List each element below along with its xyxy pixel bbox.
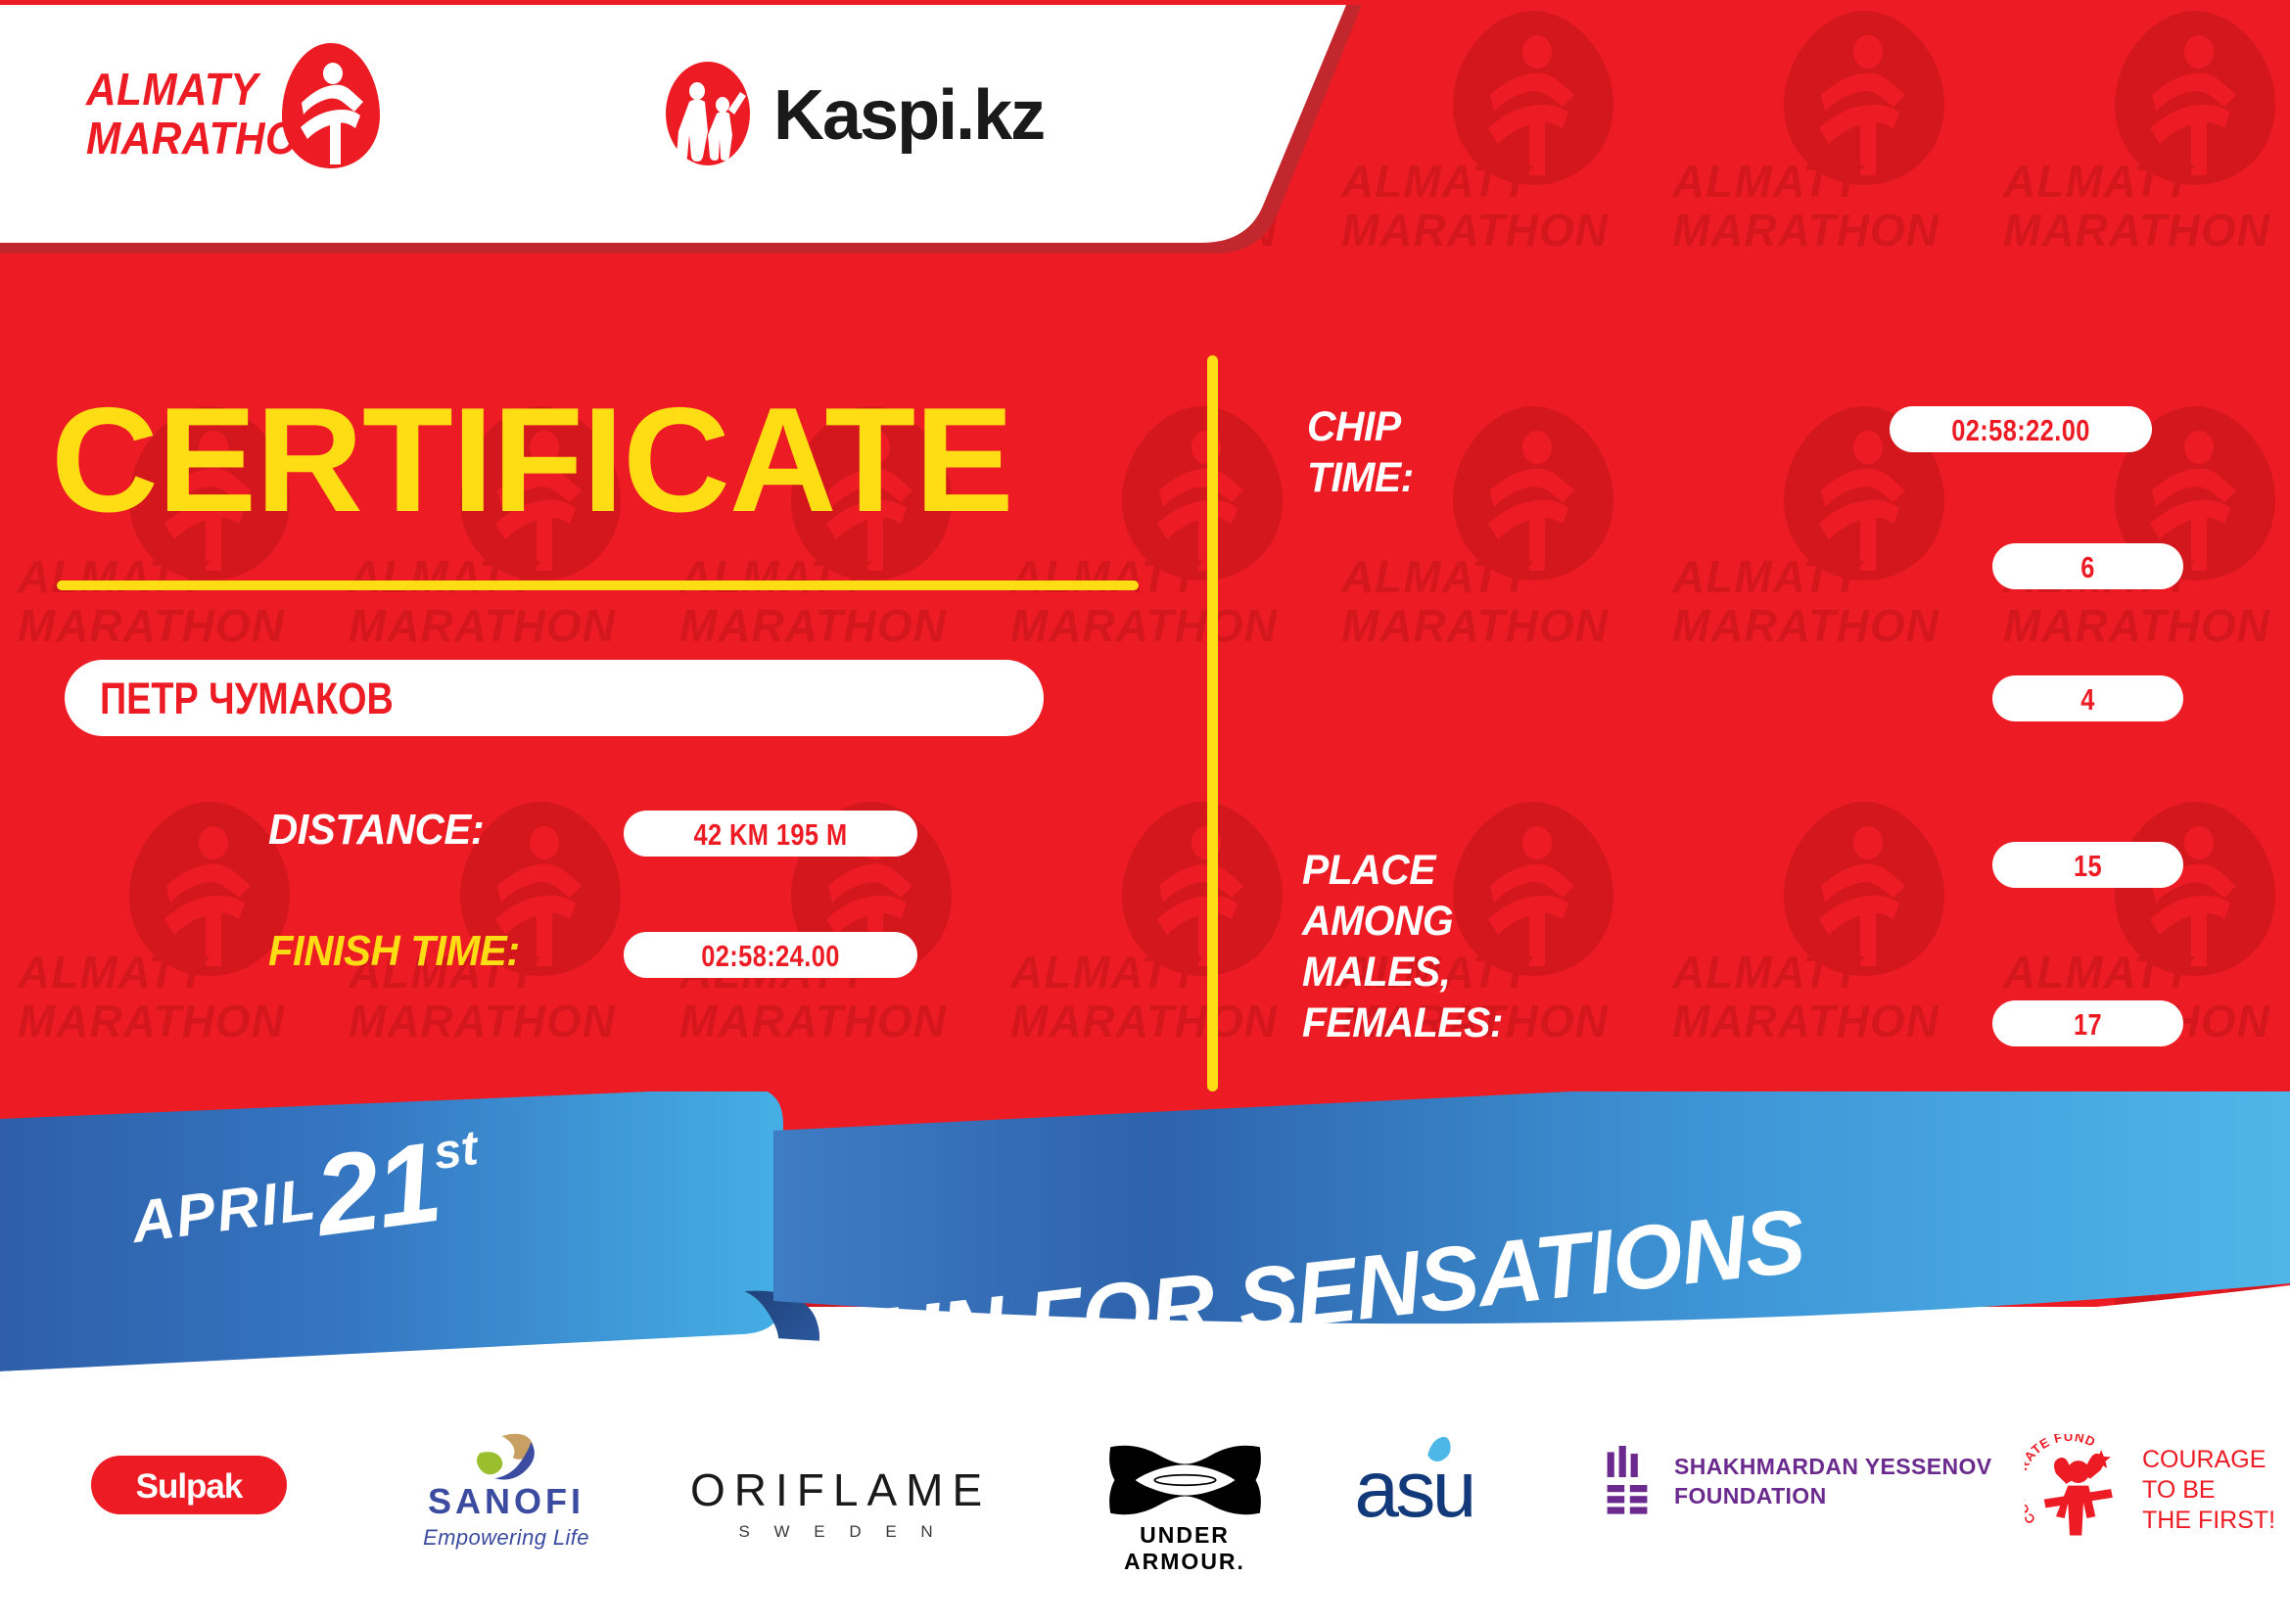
distance-value-pill: 42 KM 195 M (624, 811, 917, 857)
sanofi-label: SANOFI (403, 1481, 609, 1522)
participant-name-field: ПЕТР ЧУМАКОВ (65, 660, 1044, 736)
event-day: 21 (308, 1118, 446, 1260)
svg-text:asu: asu (1354, 1445, 1472, 1532)
participant-name: ПЕТР ЧУМАКОВ (100, 673, 394, 724)
sulpak-label: Sulpak (91, 1467, 287, 1507)
sulpak-badge: Sulpak (91, 1456, 287, 1514)
yessenov-mark-icon (1606, 1446, 1653, 1516)
place-among-value: 15 (2010, 849, 2167, 884)
finish-time-label: FINISH TIME: (268, 927, 520, 976)
sponsor-strip: Sulpak SANOFI Empowering Life ORIFLAME S… (0, 1385, 2290, 1624)
page-title: CERTIFICATE (51, 387, 1013, 534)
certificate-page: ALMATY MARATHON ALMATY MARATHON (0, 0, 2290, 1624)
sponsor-logo-sanofi: SANOFI Empowering Life (403, 1432, 609, 1551)
oriflame-tagline: S W E D E N (690, 1522, 991, 1542)
kaspi-logo-text: Kaspi.kz (773, 75, 1044, 156)
place-age-category-value: 6 (2010, 550, 2167, 585)
sponsor-logo-yessenov-foundation: SHAKHMARDAN YESSENOV FOUNDATION (1606, 1446, 1992, 1516)
sponsor-logo-under-armour: UNDER ARMOUR. (1087, 1442, 1283, 1575)
place-age-category-value-pill: 6 (1992, 543, 2183, 589)
sponsor-logo-oriflame: ORIFLAME S W E D E N (690, 1463, 991, 1542)
event-day-ordinal: st (431, 1120, 481, 1180)
place-among-value-pill: 15 (1992, 842, 2183, 888)
sanofi-mark-icon (473, 1432, 539, 1481)
event-month: APRIL (128, 1166, 321, 1255)
yessenov-foundation-label: SHAKHMARDAN YESSENOV FOUNDATION (1674, 1452, 1992, 1510)
runner-teardrop-icon (280, 41, 382, 172)
courage-first-label: COURAGE TO BE THE FIRST! (2142, 1445, 2275, 1536)
place-age-category-among-value-pill: 4 (1992, 675, 2183, 721)
finish-time-value-pill: 02:58:24.00 (624, 932, 917, 978)
almaty-marathon-logo: ALMATY MARATHON (86, 49, 409, 176)
place-overall-value-pill: 17 (1992, 1000, 2183, 1046)
kaspi-figure-icon (666, 62, 750, 165)
asu-icon: asu (1354, 1436, 1520, 1532)
chip-time-value-pill: 02:58:22.00 (1890, 406, 2152, 452)
under-armour-icon (1099, 1442, 1271, 1518)
distance-label: DISTANCE: (268, 806, 484, 855)
title-underline (57, 580, 1139, 590)
place-among-label: PLACE AMONG MALES, FEMALES: (1302, 845, 1503, 1048)
finish-time-value: 02:58:24.00 (650, 939, 891, 974)
chip-time-value: 02:58:22.00 (1913, 413, 2128, 448)
sponsor-logo-courage-first: CORPORATE FUND COURAGE TO BE THE FIRST! (2025, 1434, 2275, 1546)
kaspi-logo: Kaspi.kz (666, 54, 1077, 171)
courage-first-icon: CORPORATE FUND (2025, 1434, 2128, 1546)
chip-time-label: CHIP TIME: (1307, 401, 1414, 503)
sponsor-logo-sulpak: Sulpak (91, 1456, 287, 1514)
sponsor-logo-asu: asu (1354, 1436, 1520, 1537)
sanofi-tagline: Empowering Life (403, 1525, 609, 1551)
column-divider (1207, 355, 1218, 1091)
oriflame-label: ORIFLAME (690, 1463, 991, 1516)
under-armour-label: UNDER ARMOUR. (1087, 1522, 1283, 1575)
distance-value: 42 KM 195 M (650, 817, 891, 853)
place-age-category-among-value: 4 (2010, 682, 2167, 718)
place-overall-value: 17 (2010, 1007, 2167, 1043)
